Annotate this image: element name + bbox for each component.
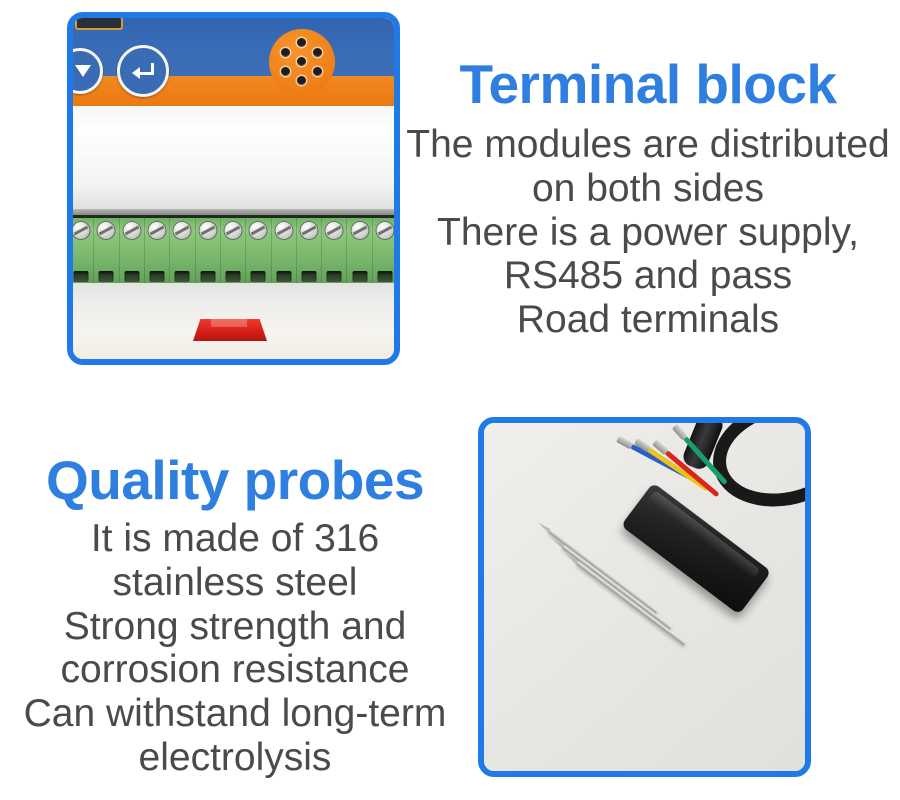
terminal-cell — [297, 218, 322, 286]
terminal-cell — [373, 218, 398, 286]
probe-needle — [576, 561, 686, 645]
terminal-block-photo-panel — [67, 12, 400, 365]
terminal-cell — [94, 218, 119, 286]
terminal-screw-icon — [249, 221, 268, 240]
terminal-cell — [347, 218, 372, 286]
soil-probe-photo — [484, 423, 805, 771]
din-rail-clip — [193, 319, 267, 341]
description-line: It is made of 316 — [2, 517, 468, 561]
terminal-hole — [124, 271, 139, 282]
quality-probes-description: It is made of 316 stainless steel Strong… — [2, 517, 468, 779]
quality-probes-text: Quality probes It is made of 316 stainle… — [2, 452, 468, 779]
triangle-down-icon — [75, 65, 91, 77]
terminal-screw-icon — [274, 221, 293, 240]
terminal-screw-icon — [122, 221, 141, 240]
description-line: on both sides — [398, 167, 898, 211]
controller-terminal-photo — [73, 18, 394, 359]
terminal-screw-icon — [72, 221, 91, 240]
enclosure-upper-body — [69, 106, 398, 218]
terminal-hole — [150, 271, 165, 282]
terminal-cell — [322, 218, 347, 286]
terminal-cell — [120, 218, 145, 286]
terminal-hole — [175, 271, 190, 282]
description-line: electrolysis — [2, 736, 468, 780]
terminal-screw-icon — [325, 221, 344, 240]
terminal-hole — [74, 271, 89, 282]
description-line: corrosion resistance — [2, 648, 468, 692]
probe-needle — [562, 545, 672, 629]
terminal-cell — [196, 218, 221, 286]
terminal-hole — [99, 271, 114, 282]
description-line: The modules are distributed — [398, 123, 898, 167]
description-line: stainless steel — [2, 561, 468, 605]
terminal-screw-icon — [97, 221, 116, 240]
terminal-cell — [272, 218, 297, 286]
terminal-screw-icon — [224, 221, 243, 240]
quality-probes-photo-panel — [478, 417, 811, 777]
terminal-block-heading: Terminal block — [398, 56, 898, 113]
green-terminal-strip — [69, 215, 398, 289]
terminal-cell — [170, 218, 195, 286]
terminal-cell — [246, 218, 271, 286]
enter-button[interactable] — [117, 45, 169, 97]
terminal-hole — [276, 271, 291, 282]
terminal-hole — [301, 271, 316, 282]
terminal-cell — [145, 218, 170, 286]
terminal-cell — [69, 218, 94, 286]
terminal-screw-icon — [173, 221, 192, 240]
terminal-screw-icon — [375, 221, 394, 240]
description-line: There is a power supply, — [398, 211, 898, 255]
terminal-hole — [226, 271, 241, 282]
terminal-hole — [377, 271, 392, 282]
terminal-hole — [352, 271, 367, 282]
terminal-block-text: Terminal block The modules are distribut… — [398, 56, 898, 342]
terminal-screw-icon — [198, 221, 217, 240]
enclosure-lower-body — [69, 283, 398, 363]
terminal-hole — [251, 271, 266, 282]
description-line: RS485 and pass — [398, 254, 898, 298]
terminal-hole — [200, 271, 215, 282]
terminal-screw-icon — [148, 221, 167, 240]
description-line: Road terminals — [398, 298, 898, 342]
enter-arrow-icon — [132, 63, 154, 79]
terminal-cell — [221, 218, 246, 286]
terminal-screw-icon — [299, 221, 318, 240]
terminal-block-description: The modules are distributed on both side… — [398, 123, 898, 341]
terminal-hole — [327, 271, 342, 282]
description-line: Can withstand long-term — [2, 692, 468, 736]
buzzer-grille-icon — [269, 29, 335, 95]
description-line: Strong strength and — [2, 605, 468, 649]
quality-probes-heading: Quality probes — [2, 452, 468, 509]
terminal-screw-icon — [350, 221, 369, 240]
